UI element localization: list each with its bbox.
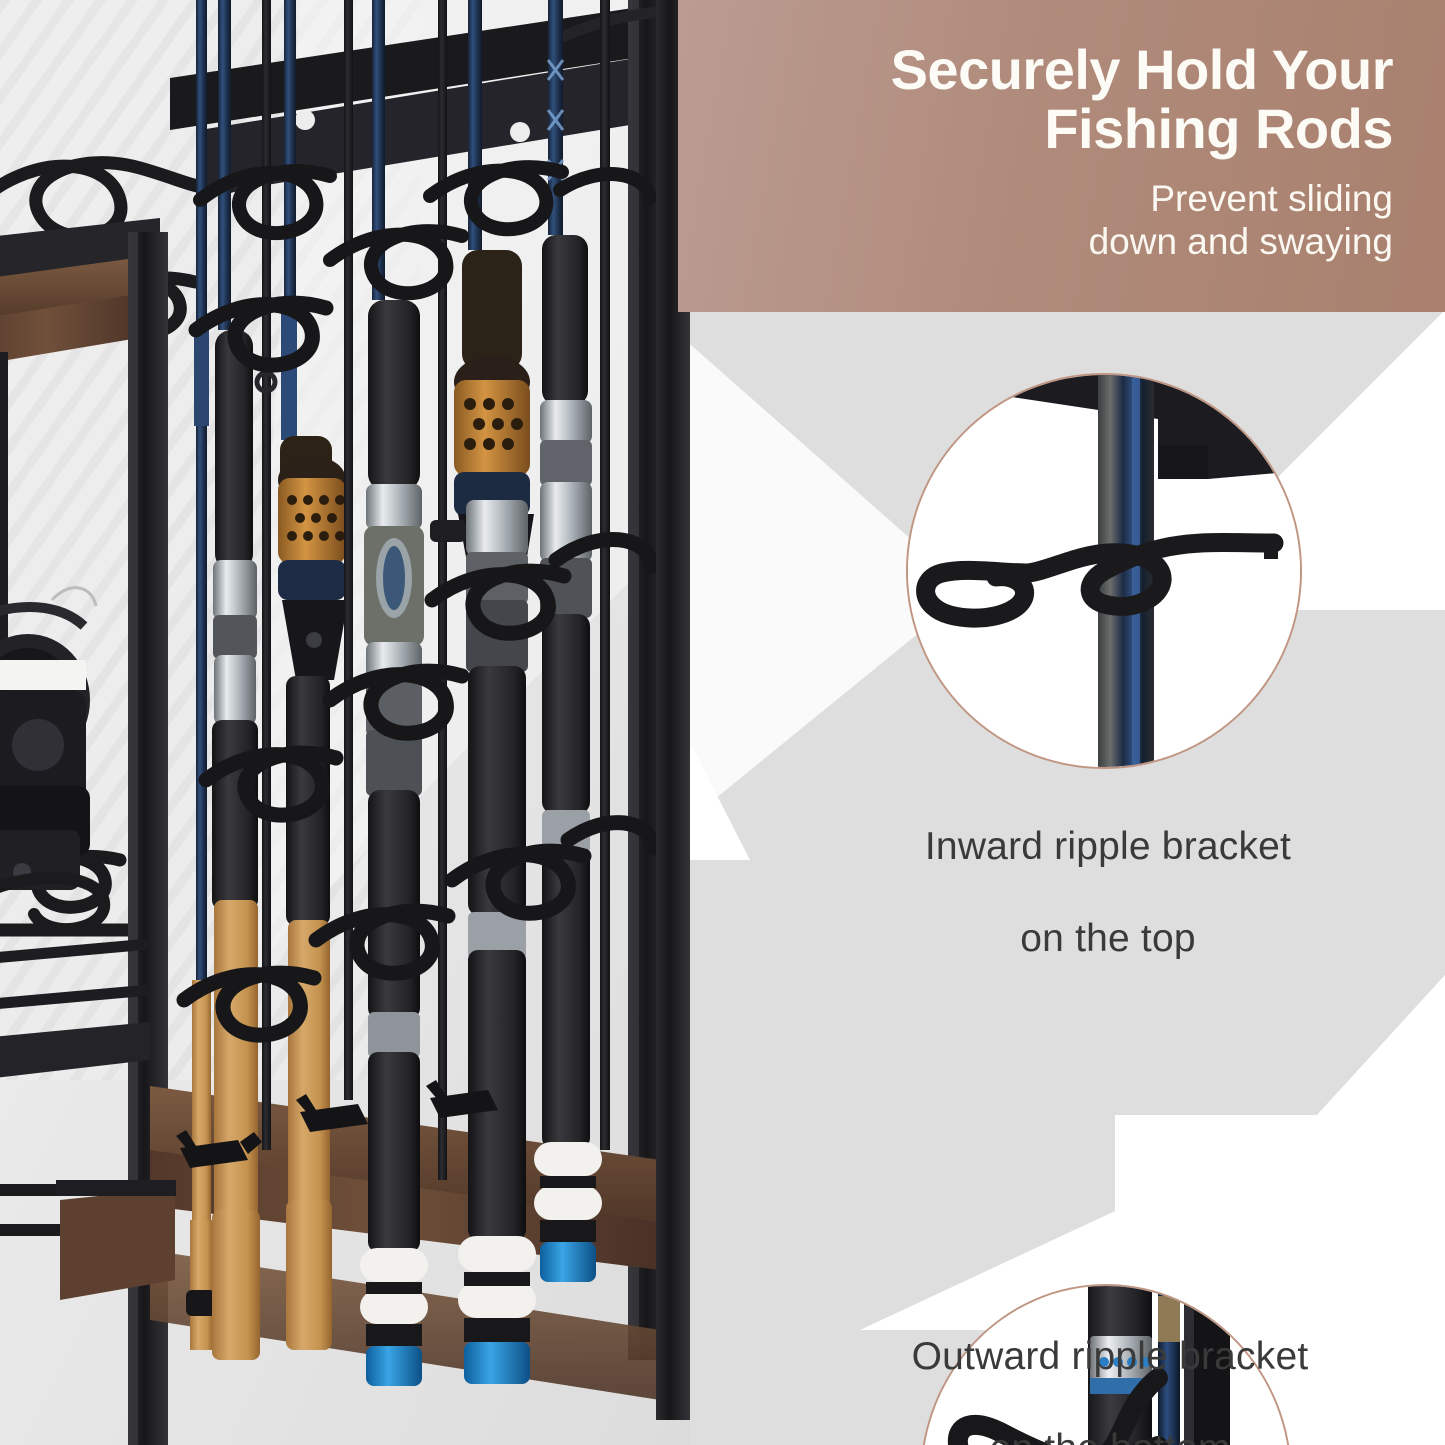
callout-caption-outward-line2: on the bottom [810, 1426, 1410, 1445]
banner-subtext-line1: Prevent sliding [678, 177, 1393, 221]
callout-caption-outward: Outward ripple bracket on the bottom [810, 1288, 1410, 1445]
banner-subtext-line2: down and swaying [678, 220, 1393, 264]
banner-subtext: Prevent sliding down and swaying [678, 177, 1393, 264]
callout-circle-inward-bracket [906, 373, 1302, 769]
banner-headline-line2: Fishing Rods [1044, 97, 1393, 160]
banner-headline: Securely Hold Your Fishing Rods [678, 40, 1393, 159]
product-feature-image: Securely Hold Your Fishing Rods Prevent … [0, 0, 1445, 1445]
product-photo [0, 0, 690, 1445]
banner-headline-line1: Securely Hold Your [891, 38, 1393, 101]
callout-caption-outward-line1: Outward ripple bracket [810, 1334, 1410, 1380]
header-banner: Securely Hold Your Fishing Rods Prevent … [678, 0, 1445, 312]
callout-caption-inward-line1: Inward ripple bracket [828, 824, 1388, 870]
callout-caption-inward-line2: on the top [828, 916, 1388, 962]
callout-caption-inward: Inward ripple bracket on the top [828, 778, 1388, 1008]
